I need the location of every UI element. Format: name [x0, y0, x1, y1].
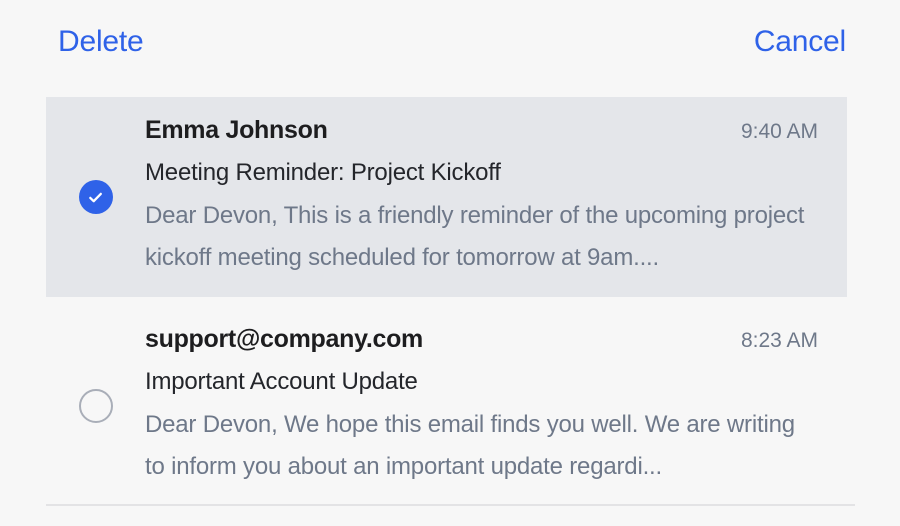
email-timestamp: 9:40 AM: [727, 120, 818, 144]
email-list-item-selected[interactable]: Emma Johnson 9:40 AM Meeting Reminder: P…: [46, 97, 847, 297]
email-content: support@company.com 8:23 AM Important Ac…: [145, 324, 847, 488]
email-sender: support@company.com: [145, 324, 423, 355]
delete-button[interactable]: Delete: [58, 27, 144, 57]
email-subject: Meeting Reminder: Project Kickoff: [145, 157, 818, 188]
email-timestamp: 8:23 AM: [727, 329, 818, 353]
email-header-line: support@company.com 8:23 AM: [145, 324, 818, 355]
email-sender: Emma Johnson: [145, 115, 328, 146]
action-toolbar: Delete Cancel: [0, 0, 900, 84]
email-preview: Dear Devon, We hope this email finds you…: [145, 404, 818, 488]
email-list: Emma Johnson 9:40 AM Meeting Reminder: P…: [0, 84, 900, 506]
cancel-button[interactable]: Cancel: [754, 27, 846, 57]
selection-control[interactable]: [46, 306, 145, 506]
email-header-line: Emma Johnson 9:40 AM: [145, 115, 818, 146]
email-preview: Dear Devon, This is a friendly reminder …: [145, 195, 818, 279]
list-divider: [46, 504, 855, 506]
email-list-item[interactable]: support@company.com 8:23 AM Important Ac…: [46, 306, 847, 506]
selection-control[interactable]: [46, 97, 145, 297]
email-content: Emma Johnson 9:40 AM Meeting Reminder: P…: [145, 115, 847, 279]
email-subject: Important Account Update: [145, 366, 818, 397]
circle-outline-icon[interactable]: [79, 389, 113, 423]
check-circle-filled-icon[interactable]: [79, 180, 113, 214]
